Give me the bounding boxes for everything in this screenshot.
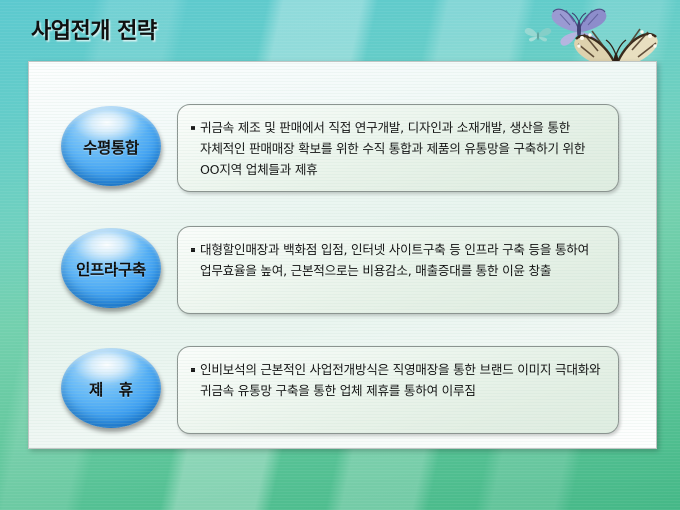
strategy-text: 귀금속 제조 및 판매에서 직접 연구개발, 디자인과 소재개발, 생산을 통한… bbox=[200, 117, 607, 180]
strategy-badge-0[interactable]: 수평통합 bbox=[61, 106, 161, 186]
content-panel: 수평통합 귀금속 제조 및 판매에서 직접 연구개발, 디자인과 소재개발, 생… bbox=[28, 61, 657, 449]
strategy-row: 인프라구축 대형할인매장과 백화점 입점, 인터넷 사이트구축 등 인프라 구축… bbox=[29, 226, 656, 318]
strategy-row: 제 휴 인비보석의 근본적인 사업전개방식은 직영매장을 통한 브랜드 이미지 … bbox=[29, 346, 656, 438]
strategy-textbox-2: 인비보석의 근본적인 사업전개방식은 직영매장을 통한 브랜드 이미지 극대화와… bbox=[177, 346, 619, 434]
title-bar: 사업전개 전략 bbox=[0, 0, 680, 60]
bullet-icon bbox=[191, 248, 195, 252]
bullet-icon bbox=[191, 126, 195, 130]
page-title: 사업전개 전략 bbox=[31, 13, 157, 45]
bullet-icon bbox=[191, 368, 195, 372]
presentation-slide: 사업전개 전략 bbox=[0, 0, 680, 510]
strategy-badge-label: 인프라구축 bbox=[76, 258, 146, 280]
strategy-textbox-1: 대형할인매장과 백화점 입점, 인터넷 사이트구축 등 인프라 구축 등을 통하… bbox=[177, 226, 619, 314]
strategy-badge-label: 제 휴 bbox=[84, 378, 138, 400]
strategy-textbox-0: 귀금속 제조 및 판매에서 직접 연구개발, 디자인과 소재개발, 생산을 통한… bbox=[177, 104, 619, 192]
strategy-badge-1[interactable]: 인프라구축 bbox=[61, 228, 161, 308]
strategy-badge-2[interactable]: 제 휴 bbox=[61, 348, 161, 428]
strategy-text: 인비보석의 근본적인 사업전개방식은 직영매장을 통한 브랜드 이미지 극대화와… bbox=[200, 359, 607, 401]
strategy-row: 수평통합 귀금속 제조 및 판매에서 직접 연구개발, 디자인과 소재개발, 생… bbox=[29, 104, 656, 196]
strategy-badge-label: 수평통합 bbox=[83, 136, 139, 158]
strategy-text: 대형할인매장과 백화점 입점, 인터넷 사이트구축 등 인프라 구축 등을 통하… bbox=[200, 239, 607, 281]
